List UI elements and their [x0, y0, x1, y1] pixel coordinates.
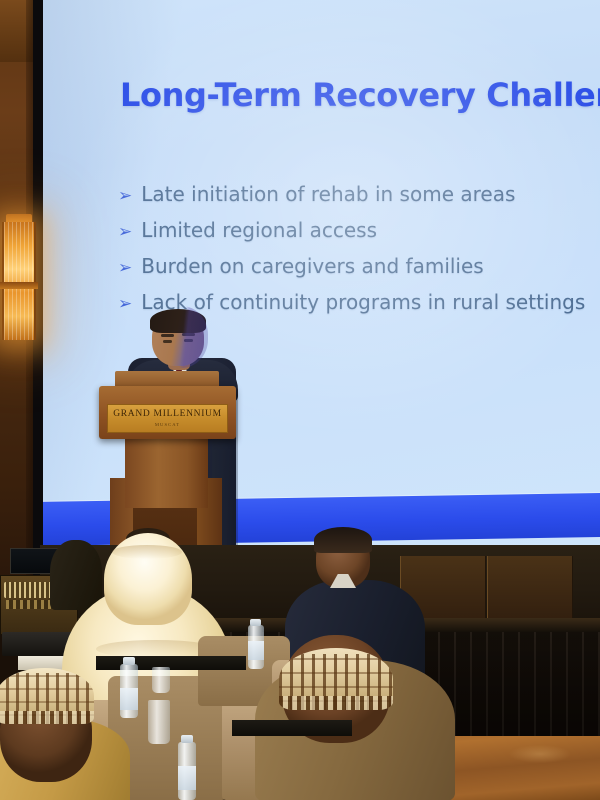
chevron-arrow-bullet-icon: ➢: [118, 223, 132, 240]
audience-table: [96, 656, 246, 670]
keffiyeh-fold: [112, 545, 182, 559]
bottle-label: [120, 688, 138, 710]
slide-bullet-list: ➢ Late initiation of rehab in some areas…: [118, 183, 600, 327]
projection-screen: Long-Term Recovery Challen ➢ Late initia…: [40, 0, 600, 546]
chevron-arrow-bullet-icon: ➢: [118, 187, 132, 204]
plaque-hotel-name: GRAND MILLENNIUM: [113, 410, 222, 420]
kumma-cap-right: [279, 648, 393, 710]
podium-plaque: GRAND MILLENNIUM MUSCAT: [107, 404, 228, 433]
bottle-label: [248, 641, 264, 660]
sconce-divider: [0, 282, 38, 289]
stage-wood-panel: [487, 556, 573, 618]
bullet-text: Limited regional access: [141, 219, 377, 242]
kumma-cap-left: [0, 668, 94, 724]
list-item: ➢ Burden on caregivers and families: [118, 255, 600, 278]
wall-sconce-light: [2, 222, 36, 340]
chevron-arrow-bullet-icon: ➢: [118, 259, 132, 276]
drinking-glass: [148, 700, 170, 744]
list-item: ➢ Limited regional access: [118, 219, 600, 242]
drinking-glass: [152, 667, 170, 693]
plaque-city-name: MUSCAT: [155, 422, 180, 427]
bottle-cap: [181, 735, 193, 743]
conference-presentation-photo: Long-Term Recovery Challen ➢ Late initia…: [0, 0, 600, 800]
projector-light-on-face: [150, 306, 208, 368]
bottle-label: [178, 766, 196, 790]
slide-title: Long-Term Recovery Challen: [120, 76, 600, 114]
podium-column: [125, 439, 208, 508]
attendee-silhouette-left: [50, 540, 102, 610]
attendee-dark-suit-hair: [314, 527, 372, 553]
bottle-cap: [123, 657, 135, 665]
bullet-text: Lack of continuity programs in rural set…: [141, 291, 585, 314]
bottle-cap: [250, 619, 261, 626]
list-item: ➢ Late initiation of rehab in some areas: [118, 183, 600, 206]
chevron-arrow-bullet-icon: ➢: [118, 295, 132, 312]
bullet-text: Late initiation of rehab in some areas: [141, 183, 515, 206]
audience-table: [232, 720, 352, 736]
bullet-text: Burden on caregivers and families: [141, 255, 483, 278]
